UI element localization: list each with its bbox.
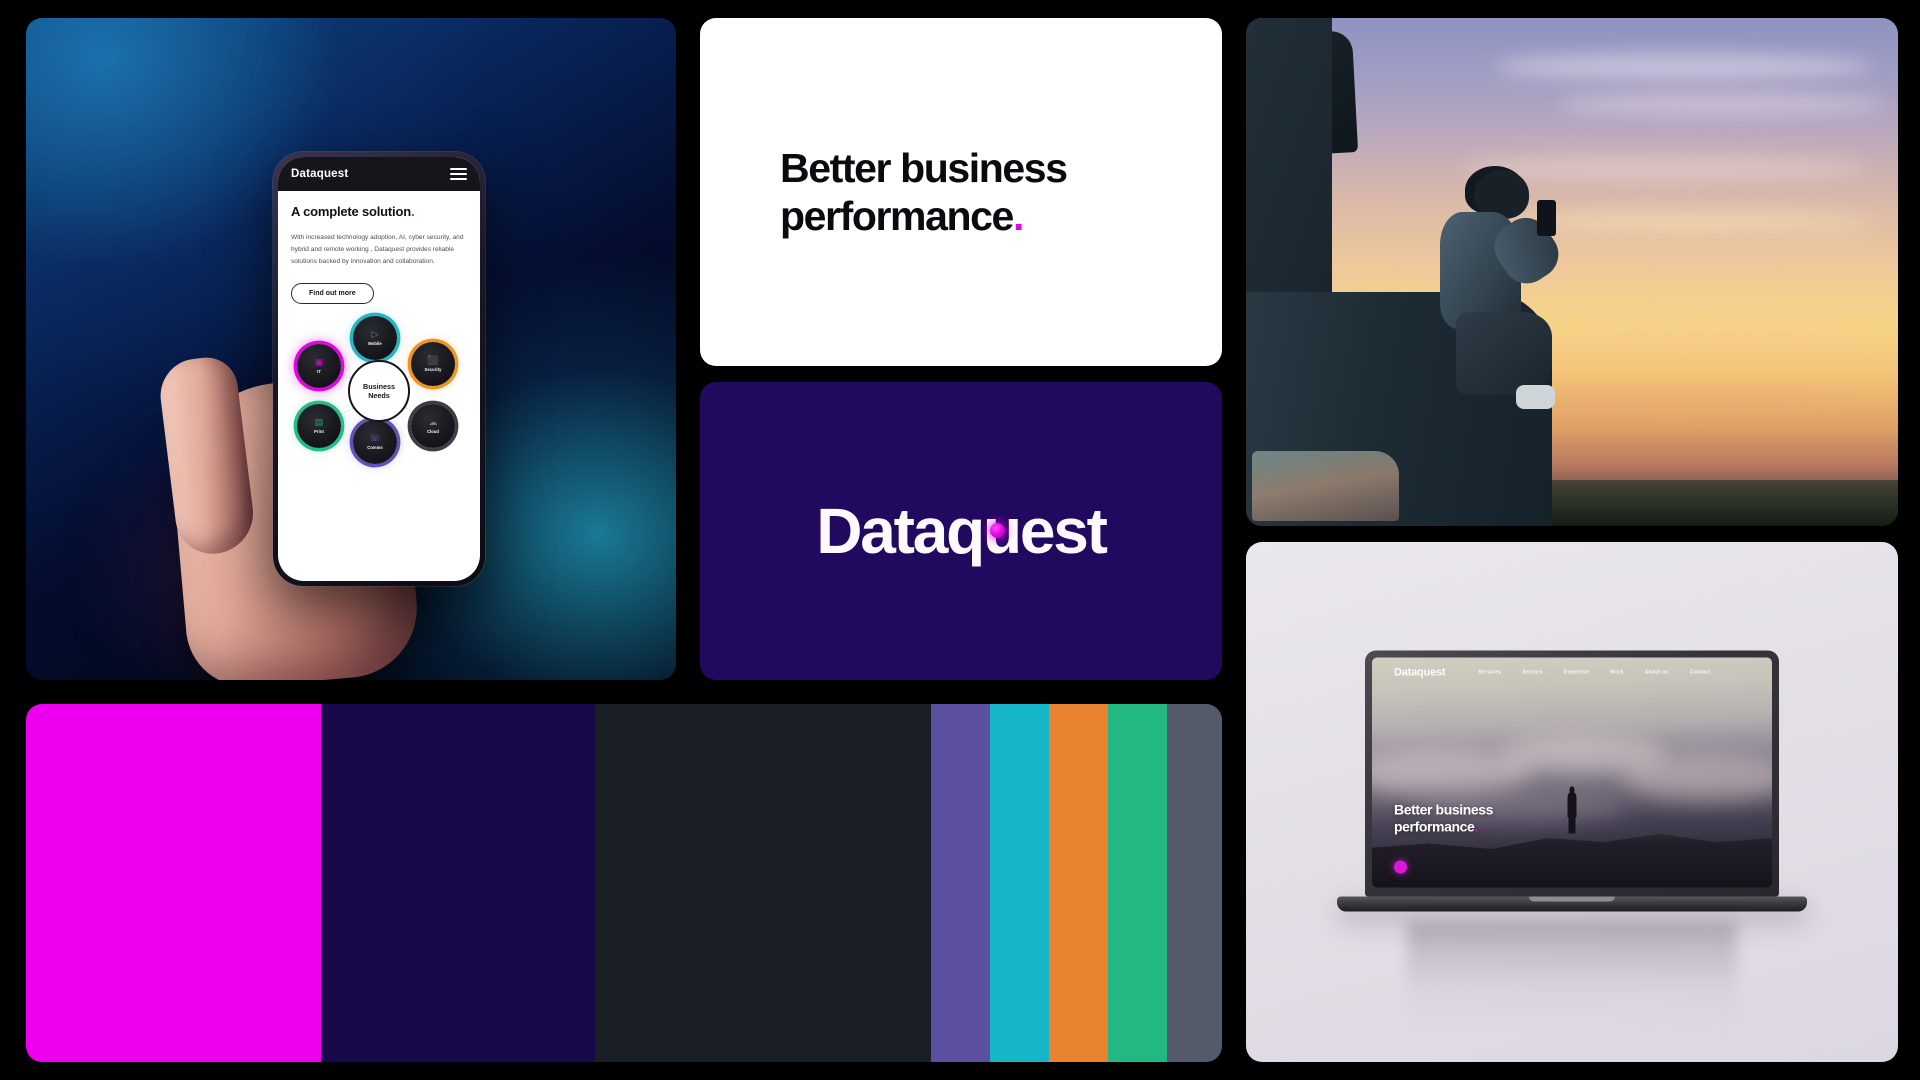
website-navbar: Dataquest Services Sectors Expertise Wor… <box>1372 658 1772 688</box>
mobile-icon: ▷ <box>372 330 379 339</box>
headline-text: Better business performance. <box>780 144 1067 241</box>
shoe <box>1516 385 1555 409</box>
hiker-legs <box>1569 816 1575 833</box>
smartphone-device: Dataquest A complete solution. With incr… <box>273 152 485 586</box>
phone-body-copy: With increased technology adoption, AI, … <box>291 232 467 268</box>
logo-card: Dataquest <box>700 382 1222 680</box>
magenta-dot-icon <box>1394 861 1407 874</box>
heading-dot: . <box>411 204 414 219</box>
nav-link-services[interactable]: Services <box>1478 670 1501 676</box>
dataquest-wordmark: Dataquest <box>816 494 1106 568</box>
diagram-node-mobile[interactable]: ▷ Mobile <box>353 316 397 360</box>
diagram-node-label: IT <box>317 369 321 374</box>
nav-link-about-us[interactable]: About us <box>1645 670 1669 676</box>
hero-line-2: performance <box>1394 819 1474 835</box>
headset-icon: ☏ <box>369 434 380 443</box>
color-swatch-charcoal <box>595 704 932 1062</box>
hiker-silhouette <box>1566 787 1579 833</box>
lock-icon: ⬛ <box>427 356 438 365</box>
held-phone-icon <box>1537 200 1557 237</box>
phone-logo[interactable]: Dataquest <box>291 168 348 180</box>
van-window <box>1252 451 1399 521</box>
diagram-node-label: Cloud <box>427 429 439 434</box>
hamburger-menu-icon[interactable] <box>450 168 467 179</box>
diagram-node-security[interactable]: ⬛ Security <box>411 342 455 386</box>
headline-card: Better business performance. <box>700 18 1222 366</box>
hero-accent-dot: . <box>1474 819 1478 835</box>
color-swatch-slate <box>1167 704 1222 1062</box>
nav-link-work[interactable]: Work <box>1610 670 1624 676</box>
legs <box>1456 312 1552 395</box>
website-hero-headline: Better business performance. <box>1394 802 1493 836</box>
server-icon: ▣ <box>315 358 324 367</box>
nav-link-expertise[interactable]: Expertise <box>1564 670 1589 676</box>
diagram-node-cloud[interactable]: ☁ Cloud <box>411 404 455 448</box>
phone-screen: Dataquest A complete solution. With incr… <box>278 157 480 581</box>
laptop-lid: Dataquest Services Sectors Expertise Wor… <box>1365 651 1779 897</box>
phone-mockup-card: Dataquest A complete solution. With incr… <box>26 18 676 680</box>
color-swatch-magenta <box>26 704 321 1062</box>
nav-link-sectors[interactable]: Sectors <box>1522 670 1542 676</box>
laptop-screen: Dataquest Services Sectors Expertise Wor… <box>1372 658 1772 888</box>
headline-accent-dot: . <box>1013 193 1023 239</box>
wordmark-text: Dataquest <box>816 495 1106 567</box>
laptop-mockup-card: Dataquest Services Sectors Expertise Wor… <box>1246 542 1898 1062</box>
cloud-icon: ☁ <box>429 418 438 427</box>
sunset-photo-card <box>1246 18 1898 526</box>
laptop-base <box>1337 897 1807 912</box>
phone-navbar: Dataquest <box>278 157 480 191</box>
diagram-node-label: Print <box>314 429 324 434</box>
color-swatch-indigo <box>321 704 595 1062</box>
find-out-more-button[interactable]: Find out more <box>291 283 374 304</box>
cloud-layer <box>1620 754 1772 800</box>
printer-icon: ▤ <box>315 418 324 427</box>
website-logo[interactable]: Dataquest <box>1394 667 1445 679</box>
hero-line-1: Better business <box>1394 802 1493 818</box>
nav-link-contact[interactable]: Contact <box>1690 670 1711 676</box>
thumb <box>156 354 257 558</box>
brand-color-palette <box>26 704 1222 1062</box>
diagram-node-label: Comms <box>367 445 383 450</box>
laptop-shadow <box>1407 922 1737 1030</box>
color-swatch-cyan <box>990 704 1049 1062</box>
hiker-body <box>1568 793 1577 818</box>
laptop-device: Dataquest Services Sectors Expertise Wor… <box>1365 651 1779 912</box>
diagram-node-comms[interactable]: ☏ Comms <box>353 420 397 464</box>
phone-heading-text: A complete solution <box>291 204 411 219</box>
cloud-streak <box>1539 333 1878 353</box>
headline-line-1: Better business <box>780 145 1067 191</box>
center-label-line2: Needs <box>368 391 390 400</box>
card-grid: Dataquest A complete solution. With incr… <box>26 18 1894 1062</box>
business-needs-diagram: ▣ IT ▷ Mobile ⬛ Security <box>295 316 463 456</box>
color-swatch-orange <box>1049 704 1108 1062</box>
color-swatch-green <box>1108 704 1167 1062</box>
diagram-node-print[interactable]: ▤ Print <box>297 404 341 448</box>
diagram-node-it[interactable]: ▣ IT <box>297 344 341 388</box>
phone-content: A complete solution. With increased tech… <box>278 191 480 581</box>
laptop-notch <box>1529 897 1615 902</box>
diagram-center-business-needs: Business Needs <box>348 360 410 422</box>
diagram-node-label: Security <box>425 367 442 372</box>
color-swatch-violet <box>931 704 990 1062</box>
center-label-line1: Business <box>363 382 395 391</box>
headline-line-2: performance <box>780 193 1013 239</box>
person-silhouette <box>1435 170 1565 414</box>
phone-heading: A complete solution. <box>291 204 467 219</box>
brand-showcase-board: Dataquest A complete solution. With incr… <box>0 0 1920 1080</box>
cloud-streak <box>1559 94 1885 114</box>
diagram-node-label: Mobile <box>368 341 382 346</box>
